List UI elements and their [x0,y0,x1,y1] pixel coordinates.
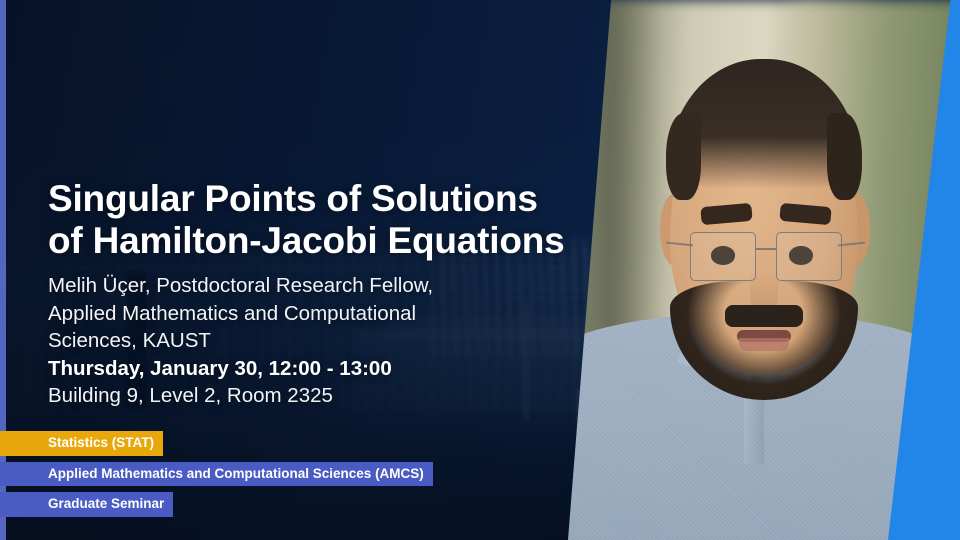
affiliation-line-2: Sciences, KAUST [48,327,518,355]
status-badge[interactable]: Statistics (STAT) [0,431,163,456]
portrait-moustache [725,305,803,327]
event-announcement-banner: Singular Points of Solutions of Hamilton… [0,0,960,540]
event-title: Singular Points of Solutions of Hamilton… [48,178,568,262]
event-datetime: Thursday, January 30, 12:00 - 13:00 [48,355,518,383]
portrait-hair-temple-left [666,113,701,199]
event-details-block: Melih Üçer, Postdoctoral Research Fellow… [48,272,518,410]
portrait-lower-lip [739,338,790,351]
portrait-eyeglass-bridge [756,248,776,250]
portrait-eyeglass-lens-left [690,232,757,281]
category-badge-list: Statistics (STAT) Applied Mathematics an… [0,431,433,517]
event-location: Building 9, Level 2, Room 2325 [48,382,518,410]
affiliation-line-1: Applied Mathematics and Computational [48,300,518,328]
speaker-line: Melih Üçer, Postdoctoral Research Fellow… [48,272,518,300]
status-badge[interactable]: Applied Mathematics and Computational Sc… [0,462,433,487]
portrait-eyeglass-lens-right [776,232,843,281]
status-badge[interactable]: Graduate Seminar [0,492,173,517]
portrait-hair-temple-right [827,113,862,199]
